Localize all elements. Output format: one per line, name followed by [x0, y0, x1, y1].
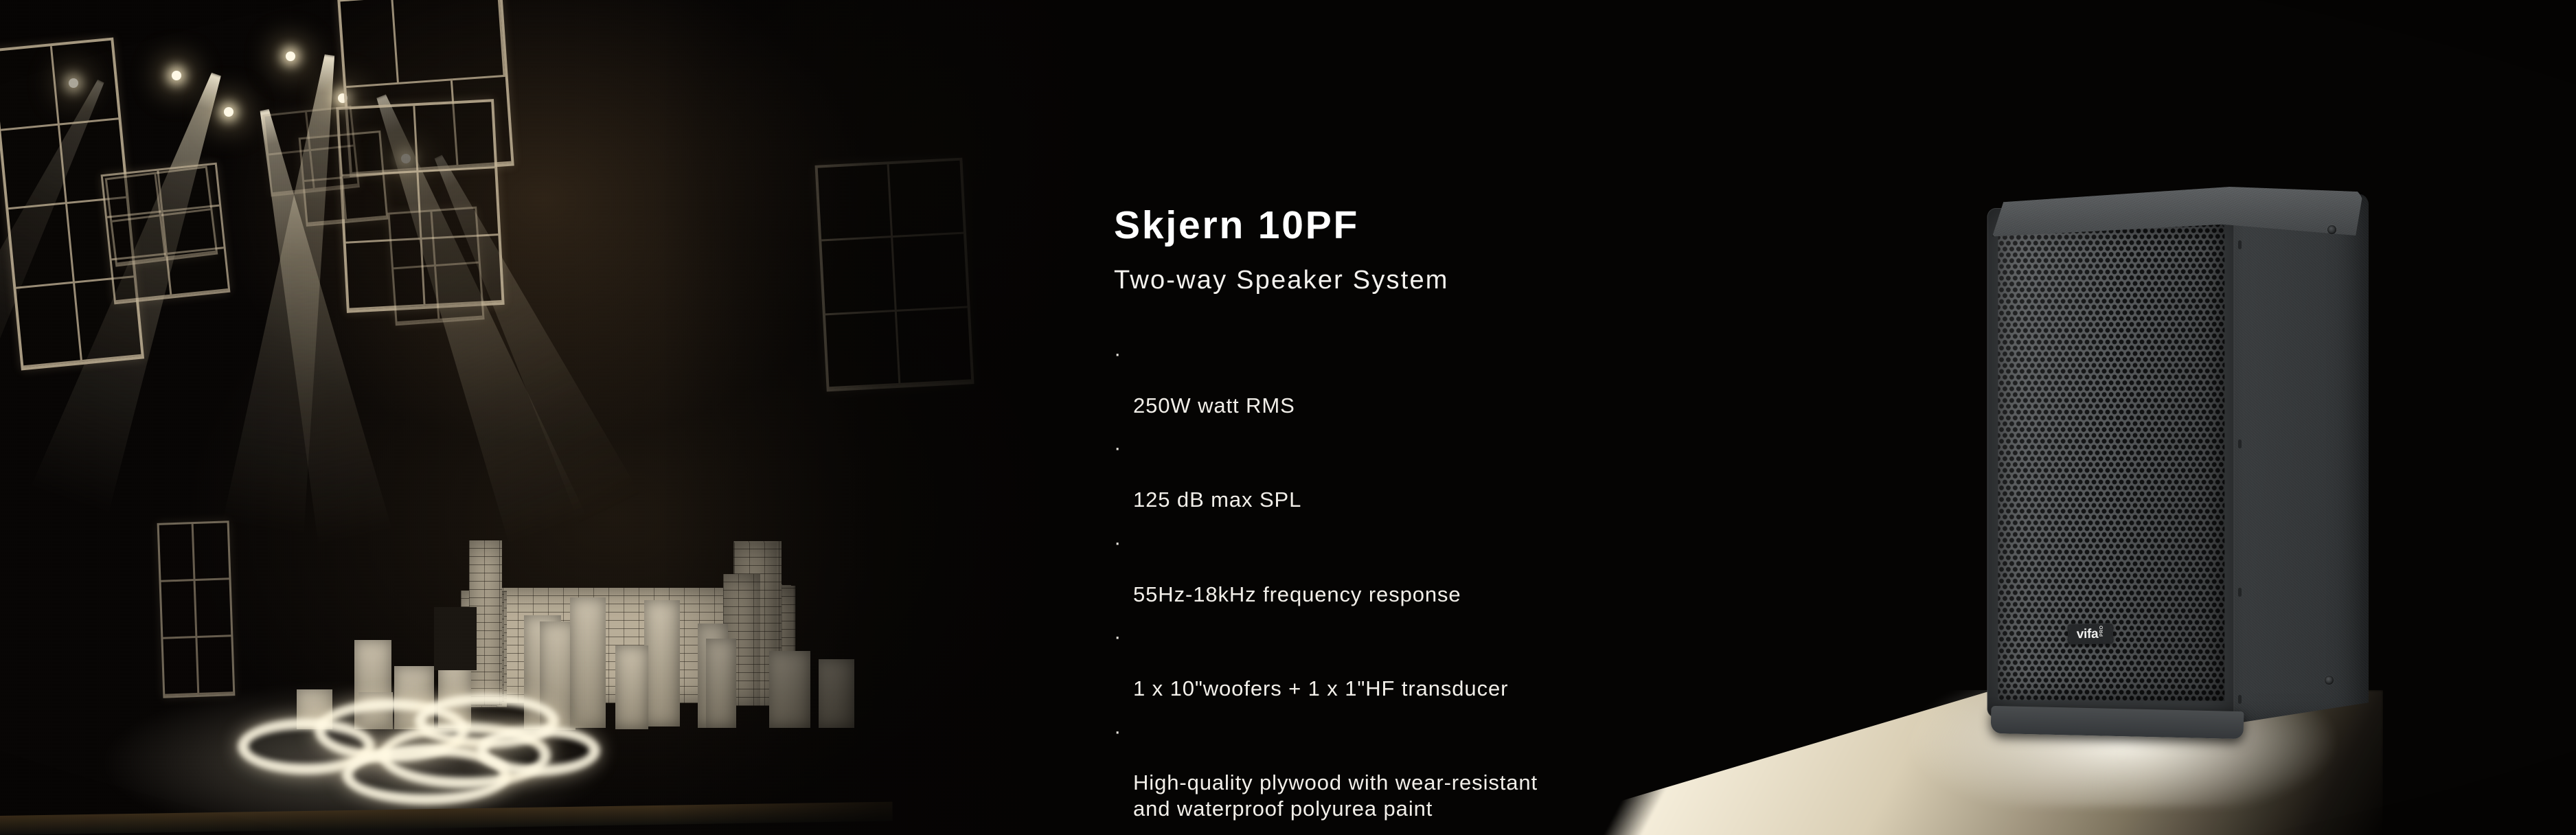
bullet-marker: ·: [1114, 529, 1121, 556]
spec-item: · 125 dB max SPL: [1114, 435, 1924, 512]
bullet-marker: ·: [1114, 718, 1121, 744]
spotlight-source: [286, 52, 295, 61]
spec-text: 125 dB max SPL: [1133, 488, 1301, 512]
speaker-insert-icon: [2238, 588, 2242, 597]
block-prop: [706, 639, 736, 728]
brand-logo-badge: vifa PRO: [2068, 623, 2114, 644]
speaker-insert-icon: [2238, 240, 2242, 249]
speaker-screw-icon: [2327, 225, 2336, 234]
spec-item: · 250W watt RMS: [1114, 341, 1924, 418]
spec-text: 55Hz-18kHz frequency response: [1133, 582, 1461, 606]
spec-text: 1 x 10"woofers + 1 x 1"HF transducer: [1133, 676, 1508, 700]
spec-item: · High-quality plywood with wear-resista…: [1114, 718, 1924, 822]
block-prop: [819, 659, 854, 728]
gobo-ring: [477, 725, 600, 776]
spec-item: · 55Hz-18kHz frequency response: [1114, 529, 1924, 607]
speaker-insert-icon: [2238, 695, 2242, 704]
spotlight-source: [172, 71, 181, 80]
window-frame-prop: [815, 158, 974, 392]
block-prop: [644, 600, 680, 727]
window-frame-prop: [105, 165, 218, 266]
window-frame-prop: [157, 521, 236, 698]
spec-text: High-quality plywood with wear-resistant…: [1133, 770, 1538, 821]
product-subtitle: Two-way Speaker System: [1114, 266, 1924, 295]
bullet-marker: ·: [1114, 624, 1121, 650]
window-frame-prop: [387, 207, 484, 326]
brand-logo-sub: PRO: [2099, 626, 2104, 637]
spec-text: 250W watt RMS: [1133, 393, 1295, 417]
photo-fade-overlay: [659, 0, 1181, 835]
window-frame-prop: [262, 106, 360, 197]
brand-logo-word: vifa: [2077, 627, 2099, 641]
product-title: Skjern 10PF: [1114, 206, 1924, 245]
stage-photograph: [0, 0, 1181, 835]
spec-list: · 250W watt RMS · 125 dB max SPL · 55Hz-…: [1114, 341, 1924, 822]
speaker-side-panel: [2233, 194, 2369, 724]
speaker-bottom-band: [1991, 706, 2244, 739]
speaker-product-image: vifa PRO: [1987, 187, 2369, 733]
product-copy: Skjern 10PF Two-way Speaker System · 250…: [1114, 206, 1924, 835]
spec-item: · 1 x 10"woofers + 1 x 1"HF transducer: [1114, 624, 1924, 701]
block-prop: [769, 651, 810, 728]
product-banner: Skjern 10PF Two-way Speaker System · 250…: [0, 0, 2576, 835]
speaker-insert-icon: [2238, 439, 2242, 448]
bullet-marker: ·: [1114, 341, 1121, 367]
bullet-marker: ·: [1114, 435, 1121, 461]
spotlight-source: [224, 107, 233, 117]
speaker-screw-icon: [2325, 676, 2334, 685]
dark-block-prop: [434, 607, 477, 670]
block-prop: [615, 645, 648, 729]
